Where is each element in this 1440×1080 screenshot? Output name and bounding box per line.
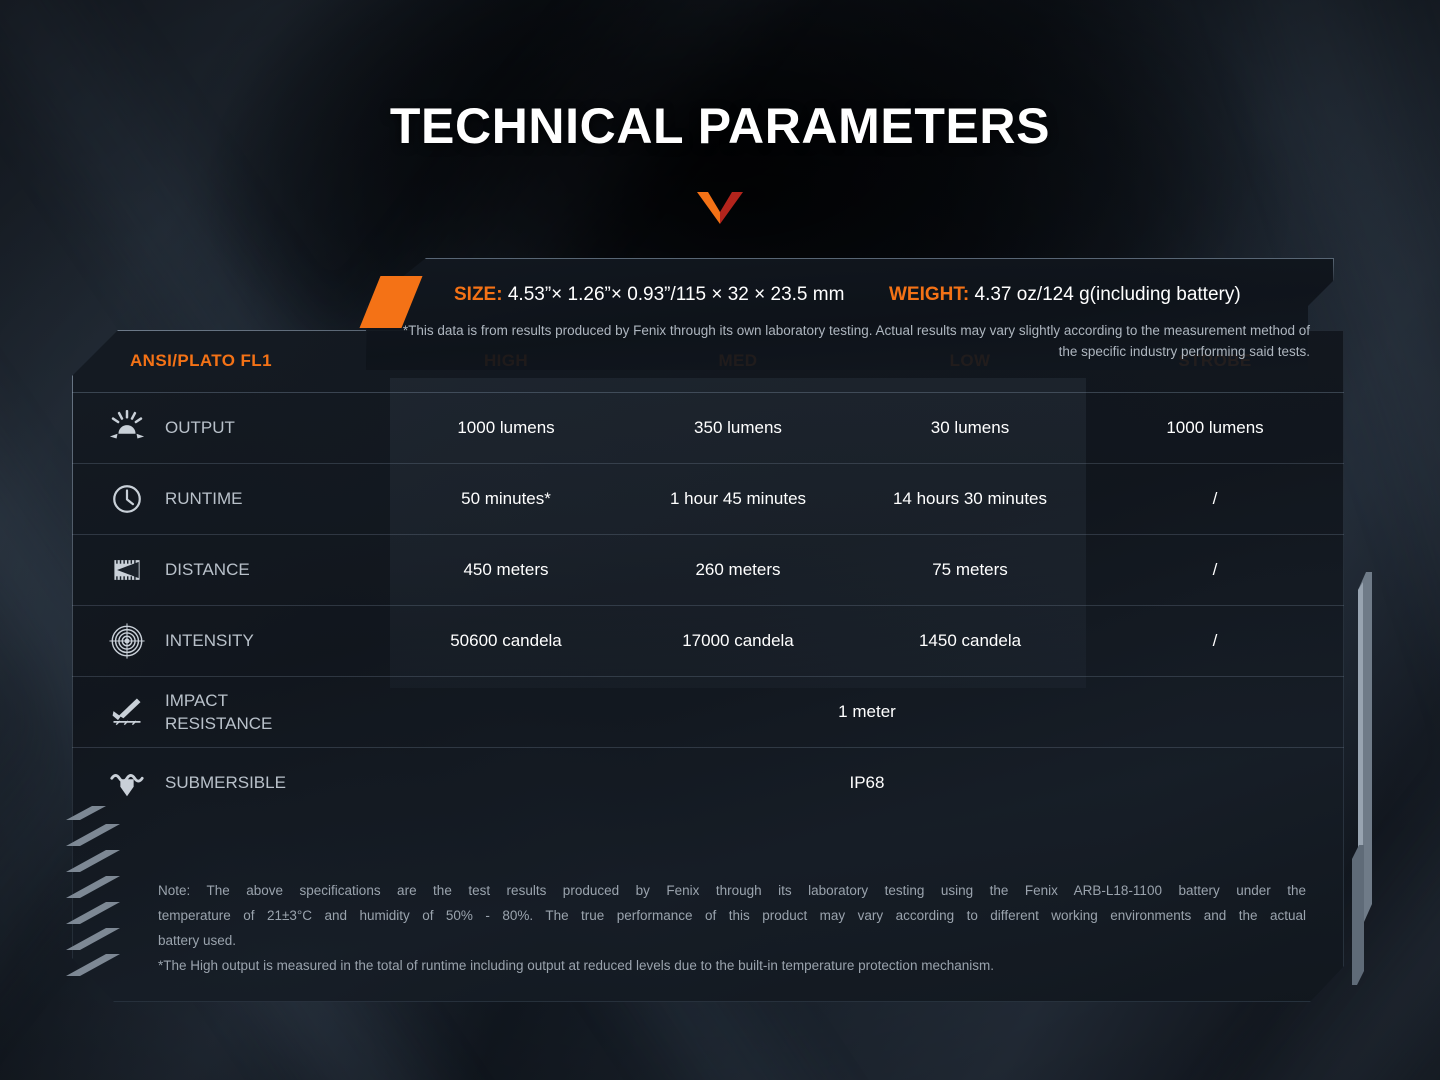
cell-runtime-strobe: / (1086, 463, 1344, 534)
footnote-line-3: battery used. (158, 928, 1306, 953)
weight-value: 4.37 oz/124 g(including battery) (975, 284, 1241, 305)
footnote-line-1: Note: The above specifications are the t… (158, 878, 1306, 903)
cell-distance-med: 260 meters (622, 534, 854, 605)
beam-distance-icon (106, 549, 148, 591)
impact-drop-icon (106, 691, 148, 733)
row-label-runtime: RUNTIME (72, 463, 390, 534)
table-row: OUTPUT 1000 lumens 350 lumens 30 lumens … (72, 392, 1344, 463)
sunburst-icon (106, 407, 148, 449)
cell-intensity-med: 17000 candela (622, 605, 854, 676)
cell-runtime-med: 1 hour 45 minutes (622, 463, 854, 534)
row-label-text: RUNTIME (165, 487, 242, 510)
cell-impact-resistance-value: 1 meter (390, 676, 1344, 747)
row-label-impact-resistance: IMPACT RESISTANCE (72, 676, 390, 747)
cell-submersible-value: IP68 (390, 747, 1344, 818)
table-row: SUBMERSIBLE IP68 (72, 747, 1344, 818)
page-title: TECHNICAL PARAMETERS (0, 97, 1440, 155)
impact-label-line1: IMPACT (165, 691, 228, 710)
table-row: DISTANCE 450 meters 260 meters 75 meters… (72, 534, 1344, 605)
specifications-table: ANSI/PLATO FL1 HIGH MED LOW STROBE (72, 330, 1344, 818)
size-value: 4.53”× 1.26”× 0.93”/115 × 32 × 23.5 mm (508, 284, 845, 305)
row-label-text: OUTPUT (165, 416, 235, 439)
target-icon (106, 620, 148, 662)
row-label-distance: DISTANCE (72, 534, 390, 605)
cell-intensity-high: 50600 candela (390, 605, 622, 676)
cell-intensity-low: 1450 candela (854, 605, 1086, 676)
row-label-intensity: INTENSITY (72, 605, 390, 676)
technical-parameters-page: TECHNICAL PARAMETERS SIZE: 4.53”× 1.26”×… (0, 0, 1440, 1080)
lab-disclaimer: *This data is from results produced by F… (400, 320, 1310, 362)
cell-distance-high: 450 meters (390, 534, 622, 605)
footnote-line-2: temperature of 21±3°C and humidity of 50… (158, 903, 1306, 928)
right-accent-bar-lower (1352, 845, 1364, 985)
cell-runtime-low: 14 hours 30 minutes (854, 463, 1086, 534)
water-submersible-icon (106, 762, 148, 804)
cell-output-high: 1000 lumens (390, 392, 622, 463)
cell-output-strobe: 1000 lumens (1086, 392, 1344, 463)
size-label: SIZE: (454, 284, 503, 305)
size-weight-line: SIZE: 4.53”× 1.26”× 0.93”/115 × 32 × 23.… (454, 284, 1241, 306)
row-label-text: INTENSITY (165, 629, 254, 652)
impact-label-line2: RESISTANCE (165, 714, 272, 733)
cell-output-low: 30 lumens (854, 392, 1086, 463)
size-weight-panel: SIZE: 4.53”× 1.26”× 0.93”/115 × 32 × 23.… (366, 258, 1334, 370)
row-label-text: IMPACT RESISTANCE (165, 689, 272, 735)
column-header-standard: ANSI/PLATO FL1 (72, 330, 390, 392)
cell-intensity-strobe: / (1086, 605, 1344, 676)
row-label-output: OUTPUT (72, 392, 390, 463)
table-row: IMPACT RESISTANCE 1 meter (72, 676, 1344, 747)
footnote-block: Note: The above specifications are the t… (158, 878, 1306, 978)
cell-runtime-high: 50 minutes* (390, 463, 622, 534)
footnote-line-4: *The High output is measured in the tota… (158, 953, 1306, 978)
row-label-text: DISTANCE (165, 558, 250, 581)
cell-distance-strobe: / (1086, 534, 1344, 605)
cell-distance-low: 75 meters (854, 534, 1086, 605)
table-row: INTENSITY 50600 candela 17000 candela 14… (72, 605, 1344, 676)
cell-output-med: 350 lumens (622, 392, 854, 463)
weight-label: WEIGHT: (889, 284, 969, 305)
hatch-stripes-decoration (66, 800, 124, 1000)
clock-icon (106, 478, 148, 520)
chevron-down-icon (697, 190, 743, 224)
table-row: RUNTIME 50 minutes* 1 hour 45 minutes 14… (72, 463, 1344, 534)
row-label-text: SUBMERSIBLE (165, 771, 286, 794)
